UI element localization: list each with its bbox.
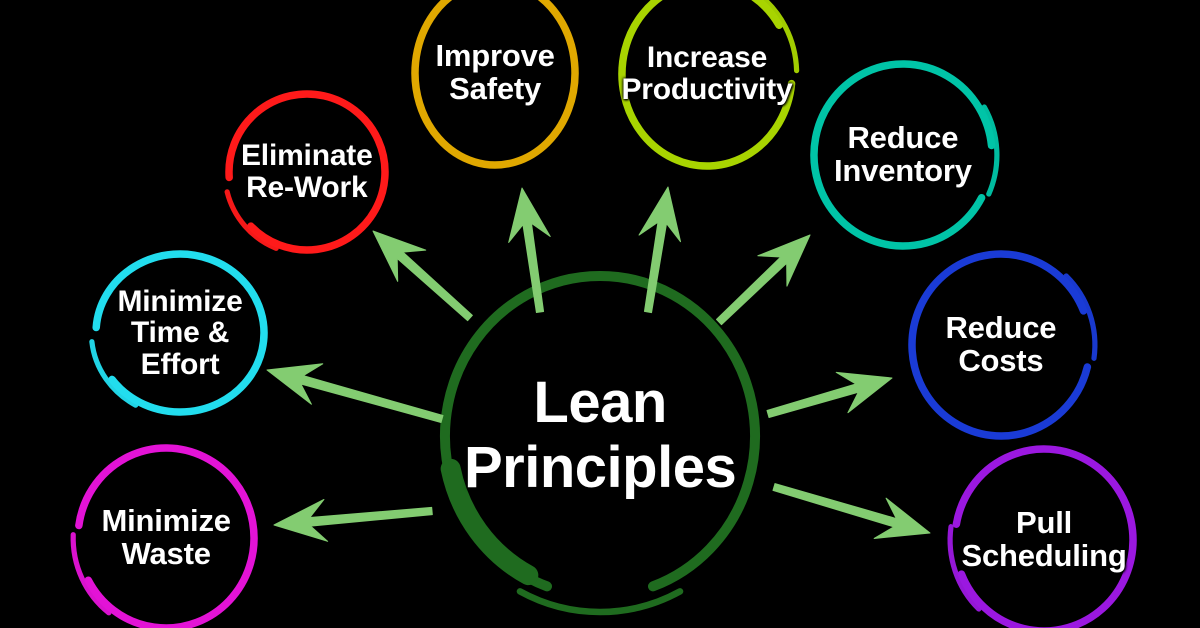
ring-overshoot	[757, 0, 796, 71]
ring-stroke	[229, 94, 385, 250]
arrow-to-eliminate-re-work	[373, 231, 472, 321]
ring-stroke	[814, 64, 992, 246]
node-ring-minimize-time-effort[interactable]	[92, 254, 264, 412]
node-ring-reduce-inventory[interactable]	[814, 64, 997, 246]
arrow-to-reduce-inventory	[717, 235, 810, 325]
arrow-to-reduce-costs	[767, 372, 892, 417]
node-ring-pull-scheduling[interactable]	[950, 449, 1133, 628]
ring-stroke	[79, 448, 254, 628]
diagram-canvas: LeanPrinciples EliminateRe-WorkImproveSa…	[0, 0, 1200, 628]
ring-stroke	[912, 254, 1087, 436]
node-ring-minimize-waste[interactable]	[73, 448, 254, 628]
center-ring-brush	[451, 469, 529, 575]
node-ring-increase-productivity[interactable]	[622, 0, 797, 166]
center-ring[interactable]	[445, 276, 755, 612]
arrow-to-minimize-waste	[274, 499, 432, 541]
node-ring-improve-safety[interactable]	[415, 0, 575, 165]
arrow-to-minimize-time-effort	[267, 364, 443, 423]
ring-stroke	[622, 0, 792, 166]
center-ring-overshoot	[520, 591, 680, 612]
node-ring-reduce-costs[interactable]	[912, 254, 1095, 436]
ring-stroke	[415, 0, 575, 165]
diagram-svg	[0, 0, 1200, 628]
node-ring-eliminate-re-work[interactable]	[227, 94, 385, 250]
arrow-to-pull-scheduling	[773, 484, 930, 539]
ring-stroke	[956, 449, 1133, 628]
ring-stroke	[96, 254, 264, 412]
